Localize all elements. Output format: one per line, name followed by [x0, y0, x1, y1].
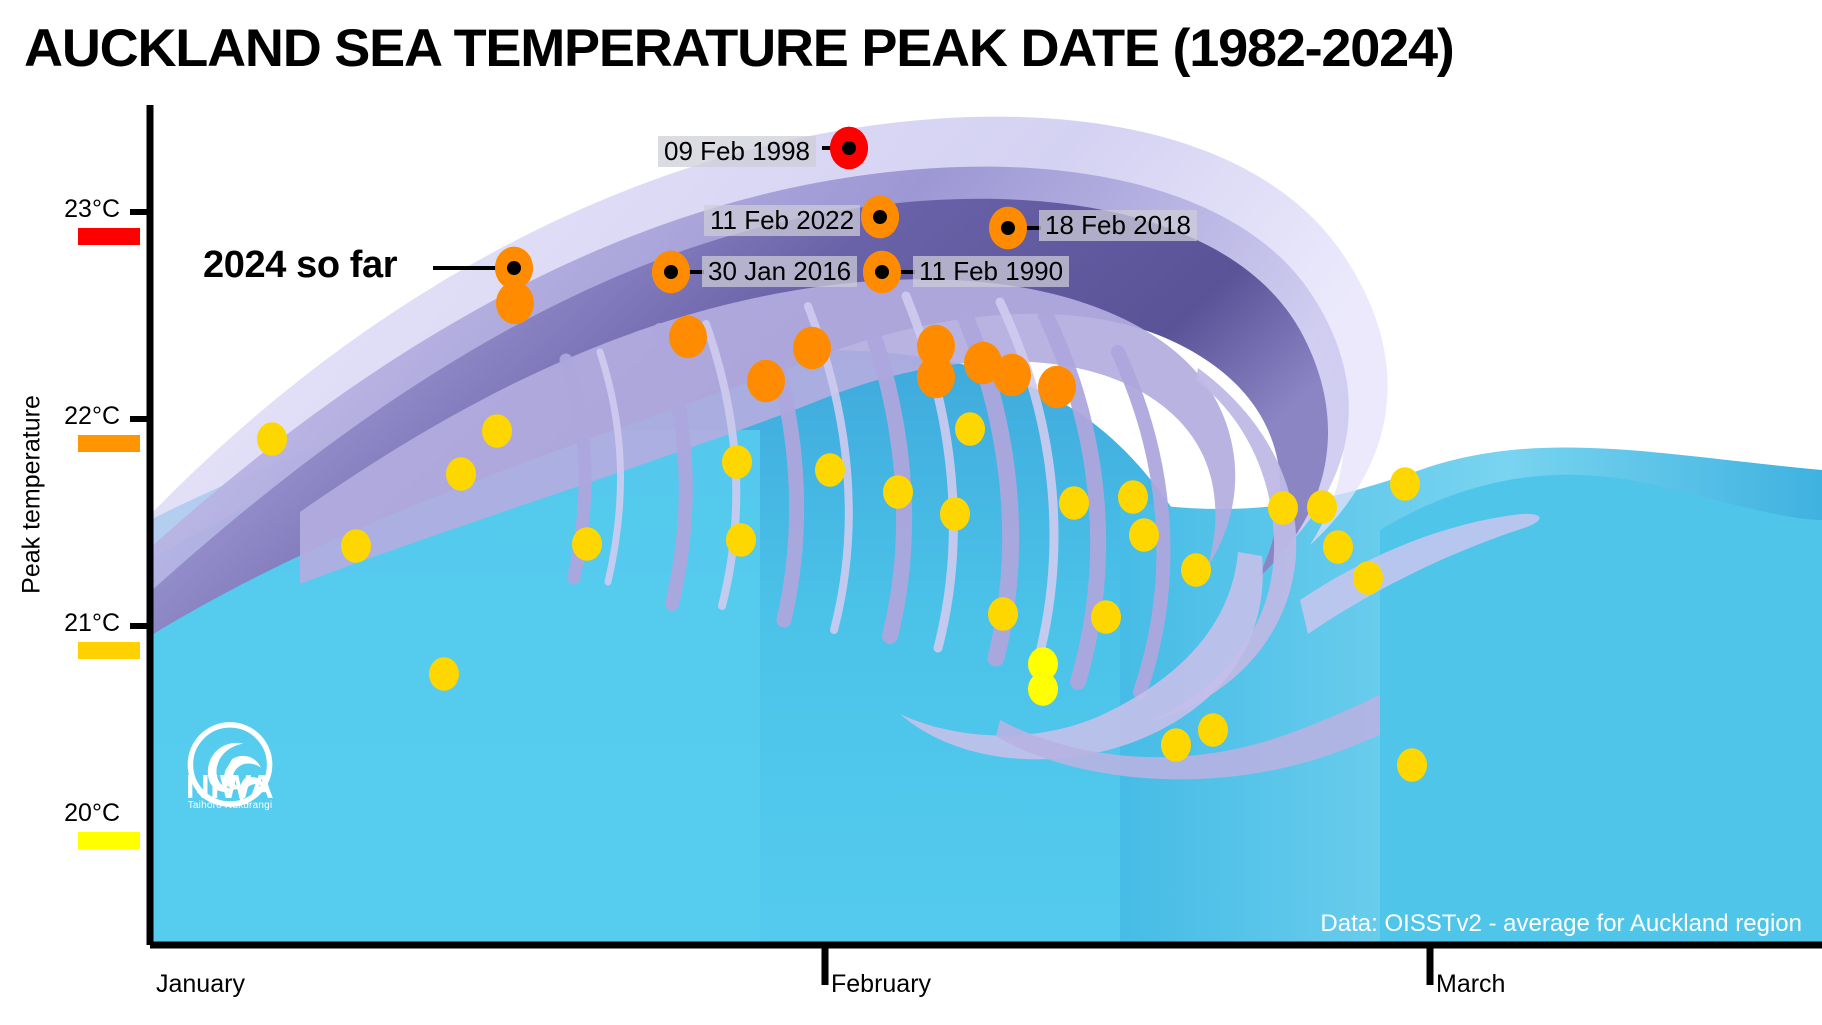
wave-illustration — [150, 117, 1822, 945]
annotation-label: 2024 so far — [203, 244, 397, 287]
annotation-marker-center — [1001, 221, 1015, 235]
scatter-point — [572, 527, 602, 561]
annotation-marker-center — [873, 210, 887, 224]
x-tick-label: February — [831, 970, 931, 999]
scatter-point — [1091, 600, 1121, 634]
x-tick-label: March — [1436, 970, 1505, 999]
scatter-point — [1198, 713, 1228, 747]
scatter-point — [1028, 672, 1058, 706]
scatter-point — [446, 457, 476, 491]
scatter-point — [257, 422, 287, 456]
scatter-point — [883, 475, 913, 509]
scatter-point — [988, 597, 1018, 631]
scatter-point — [669, 316, 707, 359]
scatter-point — [1118, 480, 1148, 514]
x-tick-label: January — [156, 970, 245, 999]
data-credit: Data: OISSTv2 - average for Auckland reg… — [1320, 910, 1802, 938]
y-tick-label: 21°C — [20, 609, 120, 638]
scatter-point — [793, 327, 831, 370]
annotation-marker-center — [875, 265, 889, 279]
scatter-point — [993, 354, 1031, 397]
annotation-label: 11 Feb 2022 — [704, 205, 860, 236]
scatter-point — [429, 657, 459, 691]
chart-page: AUCKLAND SEA TEMPERATURE PEAK DATE (1982… — [0, 0, 1822, 1025]
scatter-point — [1390, 467, 1420, 501]
scatter-point — [1181, 553, 1211, 587]
scatter-point — [917, 356, 955, 399]
y-tick-label: 20°C — [20, 799, 120, 828]
y-tick-color-swatch — [78, 832, 140, 849]
wave-scatter-plot — [0, 0, 1822, 1025]
scatter-point — [940, 497, 970, 531]
annotation-marker-center — [664, 265, 678, 279]
y-tick-color-swatch — [78, 435, 140, 452]
scatter-point — [1397, 748, 1427, 782]
y-tick-color-swatch — [78, 642, 140, 659]
niwa-tagline: Taihoro Nukurangi — [175, 800, 285, 811]
scatter-point — [1323, 530, 1353, 564]
scatter-point — [1129, 518, 1159, 552]
y-tick-color-swatch — [78, 228, 140, 245]
scatter-point — [482, 414, 512, 448]
annotation-marker-center — [842, 141, 856, 155]
y-tick-label: 23°C — [20, 195, 120, 224]
scatter-point — [1161, 728, 1191, 762]
annotation-label: 09 Feb 1998 — [658, 136, 816, 167]
scatter-point — [955, 412, 985, 446]
scatter-point — [815, 453, 845, 487]
annotation-label: 30 Jan 2016 — [702, 256, 857, 287]
annotation-label: 11 Feb 1990 — [913, 256, 1069, 287]
scatter-point — [1059, 486, 1089, 520]
y-tick-label: 22°C — [20, 402, 120, 431]
annotation-marker-center — [507, 261, 521, 275]
scatter-point — [1353, 561, 1383, 595]
scatter-point — [726, 523, 756, 557]
scatter-point — [1307, 490, 1337, 524]
scatter-point — [722, 445, 752, 479]
scatter-point — [1268, 491, 1298, 525]
annotation-label: 18 Feb 2018 — [1039, 210, 1197, 241]
scatter-point — [1038, 366, 1076, 409]
scatter-point — [341, 529, 371, 563]
scatter-point — [747, 360, 785, 403]
